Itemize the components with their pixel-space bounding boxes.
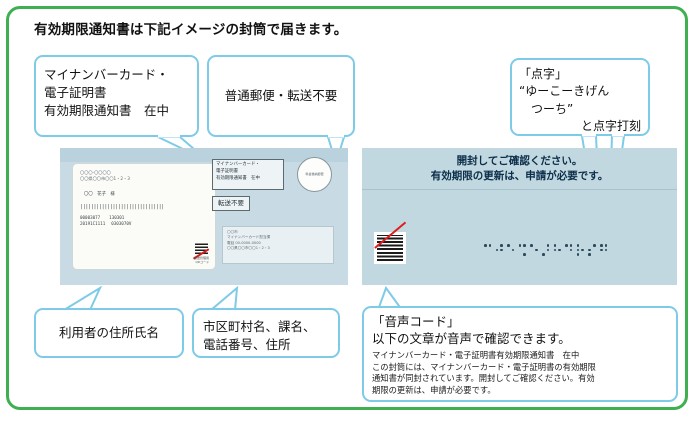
window-qr-caption: 郵送管理用QRコード [194, 257, 209, 265]
braille-dot [605, 253, 608, 256]
braille-dot [542, 244, 545, 247]
callout-braille-line-2: “ゆーこーきげん [519, 83, 641, 100]
audio-code-fine-line-2: この封筒には、マイナンバーカード・電子証明書の有効期限 [372, 362, 668, 374]
braille-dot [565, 253, 568, 256]
braille-dot [565, 244, 568, 247]
braille-dot [588, 249, 591, 252]
braille-dot [554, 253, 557, 256]
callout-municipality-line-2: 電話番号、住所 [203, 336, 329, 354]
braille-dot [523, 253, 526, 256]
braille-dot [588, 253, 591, 256]
braille-dot [570, 244, 573, 247]
braille-dot [535, 253, 538, 256]
braille-dot [547, 244, 550, 247]
braille-dot [512, 253, 515, 256]
braille-cell [577, 244, 585, 256]
callout-card-contents-line-2: 電子証明書 [44, 84, 189, 102]
callout-municipality-line-1: 市区町村名、課名、 [203, 318, 329, 336]
braille-dot [547, 249, 550, 252]
braille-dot [600, 253, 603, 256]
braille-dot [570, 253, 573, 256]
braille-dot [496, 244, 499, 247]
braille-dot [519, 249, 522, 252]
callout-user-address: 利用者の住所氏名 [34, 308, 184, 358]
braille-dot [484, 249, 487, 252]
braille-dot [530, 253, 533, 256]
braille-dot [489, 244, 492, 247]
audio-code-icon [374, 232, 406, 264]
braille-dot [519, 253, 522, 256]
braille-dot [581, 244, 584, 247]
braille-dot [577, 249, 580, 252]
envelope-label-forward-text: 転送不要 [218, 198, 244, 208]
braille-dot [600, 249, 603, 252]
envelope-label-contents-line-3: 有効期限通知書 在中 [216, 176, 280, 183]
braille-dot [558, 249, 561, 252]
braille-dot [593, 244, 596, 247]
braille-dot [512, 249, 515, 252]
braille-dot [581, 253, 584, 256]
braille-cell [565, 244, 573, 256]
braille-dot [570, 249, 573, 252]
braille-cell [484, 244, 492, 256]
braille-dot [577, 244, 580, 247]
braille-dot [554, 244, 557, 247]
braille-dot [512, 244, 515, 247]
callout-braille: 「点字」 “ゆーこーきげん つーち” と点字打刻 [510, 58, 650, 136]
braille-cell [530, 244, 538, 256]
audio-code-title-line-1: 「音声コード」 [372, 314, 668, 331]
callout-card-contents-line-3: 有効期限通知書 在中 [44, 102, 189, 120]
envelope-label-forward: 転送不要 [212, 196, 250, 211]
braille-dot [547, 253, 550, 256]
braille-dot [565, 249, 568, 252]
braille-dot [500, 249, 503, 252]
braille-dot [535, 244, 538, 247]
address-code-2a: 20191C1111 [80, 221, 105, 227]
callout-card-contents-line-1: マイナンバーカード・ [44, 66, 189, 84]
figure-root: 有効期限通知書は下記イメージの封筒で届きます。 マイナンバーカード・ 電子証明書… [0, 0, 700, 422]
envelope-back-notice-line-2: 有効期限の更新は、申請が必要です。 [362, 169, 677, 184]
braille-dot [577, 253, 580, 256]
qr-code-icon [377, 235, 403, 261]
braille-dot [523, 244, 526, 247]
braille-dot [588, 244, 591, 247]
envelope-label-contents-line-1: マイナンバーカード・ [216, 162, 280, 169]
braille-dot [558, 253, 561, 256]
page-title: 有効期限通知書は下記イメージの封筒で届きます。 [34, 18, 347, 38]
sender-info-box: 〇〇市 マイナンバーカード担当課 電話 00-0000-0000 〇〇県〇〇市〇… [222, 226, 334, 264]
braille-dot [489, 253, 492, 256]
braille-dot [507, 253, 510, 256]
braille-dot [581, 249, 584, 252]
callout-braille-line-4: と点字打刻 [519, 118, 641, 135]
callout-user-address-text: 利用者の住所氏名 [59, 324, 159, 342]
audio-code-title-line-2: 以下の文章が音声で確認できます。 [372, 331, 668, 348]
braille-dot [507, 244, 510, 247]
sender-line-4: 〇〇県〇〇市〇〇1・2・3 [227, 246, 329, 251]
envelope-back: 開封してご確認ください。 有効期限の更新は、申請が必要です。 [362, 148, 677, 285]
braille-cell [588, 244, 596, 256]
braille-dot [593, 249, 596, 252]
address-window: 〇〇〇-〇〇〇〇 〇〇県〇〇市〇〇1・2・3 〇〇 花子 様 |||||||||… [72, 163, 216, 270]
braille-dot [605, 244, 608, 247]
callout-braille-line-1: 「点字」 [519, 66, 641, 83]
audio-code-fine-line-4: 期限の更新は、申請が必要です。 [372, 385, 668, 397]
envelope-label-contents: マイナンバーカード・ 電子証明書 有効期限通知書 在中 [212, 159, 284, 190]
braille-cell [600, 244, 608, 256]
audio-code-fine-line-3: 通知書が同封されています。開封してご確認ください。有効 [372, 373, 668, 385]
braille-dot [554, 249, 557, 252]
envelope-front: 〇〇〇-〇〇〇〇 〇〇県〇〇市〇〇1・2・3 〇〇 花子 様 |||||||||… [60, 148, 348, 285]
envelope-back-notice: 開封してご確認ください。 有効期限の更新は、申請が必要です。 [362, 154, 677, 184]
braille-dot [542, 249, 545, 252]
braille-dot [542, 253, 545, 256]
audio-code-block: 「音声コード」 以下の文章が音声で確認できます。 マイナンバーカード・電子証明書… [362, 306, 678, 402]
address-barcode: ||||||||||||||||||||||||||||||| [80, 204, 208, 212]
braille-dot [600, 244, 603, 247]
audio-code-fine-line-1: マイナンバーカード・電子証明書有効期限通知書 在中 [372, 350, 668, 362]
braille-dot [507, 249, 510, 252]
braille-cell [507, 244, 515, 256]
callout-braille-line-3: つーち” [519, 101, 641, 118]
recipient-name: 〇〇 花子 様 [84, 192, 208, 199]
braille-dot [530, 249, 533, 252]
braille-dot [605, 249, 608, 252]
braille-dot [496, 253, 499, 256]
braille-dot [496, 249, 499, 252]
braille-dot [484, 253, 487, 256]
postal-stamp-text: 料金後納郵便 [305, 173, 323, 177]
braille-cell [496, 244, 504, 256]
callout-municipality: 市区町村名、課名、 電話番号、住所 [192, 308, 340, 358]
braille-dots [484, 244, 608, 256]
braille-dot [523, 249, 526, 252]
address-line: 〇〇県〇〇市〇〇1・2・3 [80, 176, 208, 182]
braille-cell [519, 244, 527, 256]
braille-dot [558, 244, 561, 247]
braille-dot [519, 244, 522, 247]
braille-cell [542, 244, 550, 256]
callout-card-contents: マイナンバーカード・ 電子証明書 有効期限通知書 在中 [34, 55, 199, 137]
callout-mail-type: 普通郵便・転送不要 [207, 55, 355, 137]
postal-stamp-mark: 料金後納郵便 [297, 157, 332, 192]
braille-dot [530, 244, 533, 247]
braille-dot [500, 253, 503, 256]
envelope-back-notice-line-1: 開封してご確認ください。 [362, 154, 677, 169]
envelope-label-contents-line-2: 電子証明書 [216, 169, 280, 176]
braille-dot [535, 249, 538, 252]
braille-dot [484, 244, 487, 247]
braille-dot [500, 244, 503, 247]
callout-mail-type-line-1: 普通郵便・転送不要 [225, 87, 338, 105]
braille-cell [554, 244, 562, 256]
braille-dot [489, 249, 492, 252]
address-code-2b: 0303070V [111, 221, 131, 227]
braille-dot [593, 253, 596, 256]
